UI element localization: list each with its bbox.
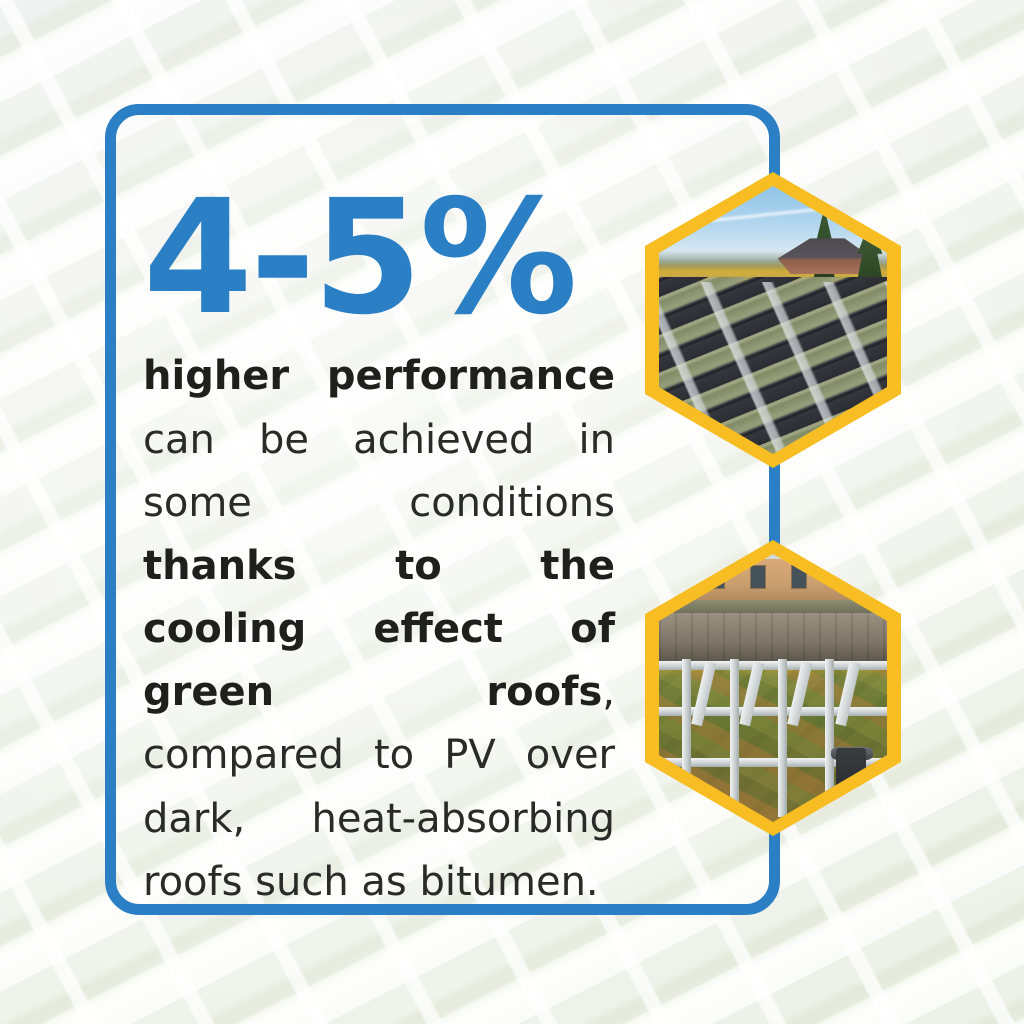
body-segment-2: thanks to the cooling effect of green ro… (143, 543, 615, 715)
rail-vertical-1 (682, 659, 691, 817)
frame-rail-between-hexagons (769, 466, 780, 548)
roof-parapet (659, 600, 887, 613)
hexagon-photo-bottom (645, 540, 901, 836)
rail-vertical-3 (778, 659, 787, 817)
concrete-wall (659, 613, 887, 661)
body-segment-1: can be achieved in some conditions (143, 417, 615, 526)
pv-mount-rails (659, 282, 887, 454)
house-roof (778, 237, 874, 275)
body-segment-0: higher performance (143, 353, 615, 399)
hexagon-photo-top (645, 172, 901, 468)
headline-statistic: 4-5% (143, 186, 615, 331)
building-window-2 (750, 565, 766, 589)
rail-vertical-2 (730, 659, 739, 817)
body-paragraph: higher performance can be achieved in so… (143, 345, 615, 914)
text-column: 4-5% higher performance can be achieved … (143, 186, 615, 914)
infographic-poster: 4-5% higher performance can be achieved … (0, 0, 1024, 1024)
